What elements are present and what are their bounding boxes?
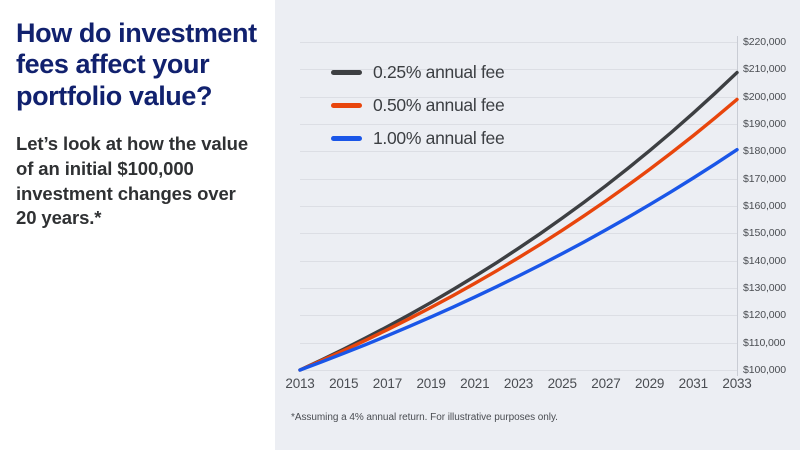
chart-legend: 0.25% annual fee0.50% annual fee1.00% an… (331, 62, 504, 149)
y-axis-tick-label: $210,000 (743, 63, 786, 75)
copy-panel: How do investment fees affect your portf… (0, 0, 275, 450)
legend-line-swatch-icon (331, 70, 362, 75)
x-axis-tick-label: 2031 (679, 376, 708, 391)
y-axis-tick-label: $100,000 (743, 364, 786, 376)
x-axis-tick-label: 2019 (416, 376, 445, 391)
x-axis-tick-label: 2013 (285, 376, 314, 391)
legend-item-label: 0.50% annual fee (373, 95, 504, 116)
x-axis-tick-label: 2023 (504, 376, 533, 391)
x-axis-tick-label: 2021 (460, 376, 489, 391)
legend-item-label: 1.00% annual fee (373, 128, 504, 149)
y-axis-tick-label: $150,000 (743, 227, 786, 239)
x-axis-tick-label: 2025 (548, 376, 577, 391)
y-axis-tick-label: $220,000 (743, 36, 786, 48)
infographic-root: How do investment fees affect your portf… (0, 0, 800, 450)
legend-line-swatch-icon (331, 136, 362, 141)
x-axis-labels: 2013201520172019202120232025202720292031… (275, 376, 800, 398)
page-title: How do investment fees affect your portf… (16, 18, 259, 112)
y-axis-tick-label: $120,000 (743, 309, 786, 321)
y-axis-tick-label: $180,000 (743, 145, 786, 157)
legend-item[interactable]: 1.00% annual fee (331, 128, 504, 149)
x-axis-tick-label: 2027 (591, 376, 620, 391)
x-axis-tick-label: 2017 (373, 376, 402, 391)
legend-item[interactable]: 0.50% annual fee (331, 95, 504, 116)
x-axis-tick-label: 2015 (329, 376, 358, 391)
y-axis-tick-label: $200,000 (743, 91, 786, 103)
y-axis-tick-label: $170,000 (743, 173, 786, 185)
legend-line-swatch-icon (331, 103, 362, 108)
page-subtitle: Let’s look at how the value of an initia… (16, 132, 259, 231)
chart-panel: $220,000$210,000$200,000$190,000$180,000… (275, 0, 800, 450)
y-axis-tick-label: $140,000 (743, 255, 786, 267)
chart-footnote: *Assuming a 4% annual return. For illust… (291, 412, 558, 423)
x-axis-tick-label: 2033 (722, 376, 751, 391)
legend-item-label: 0.25% annual fee (373, 62, 504, 83)
y-axis-tick-label: $110,000 (743, 337, 785, 349)
legend-item[interactable]: 0.25% annual fee (331, 62, 504, 83)
x-axis-tick-label: 2029 (635, 376, 664, 391)
y-axis-tick-label: $190,000 (743, 118, 786, 130)
y-axis-tick-label: $160,000 (743, 200, 786, 212)
y-axis-tick-label: $130,000 (743, 282, 786, 294)
